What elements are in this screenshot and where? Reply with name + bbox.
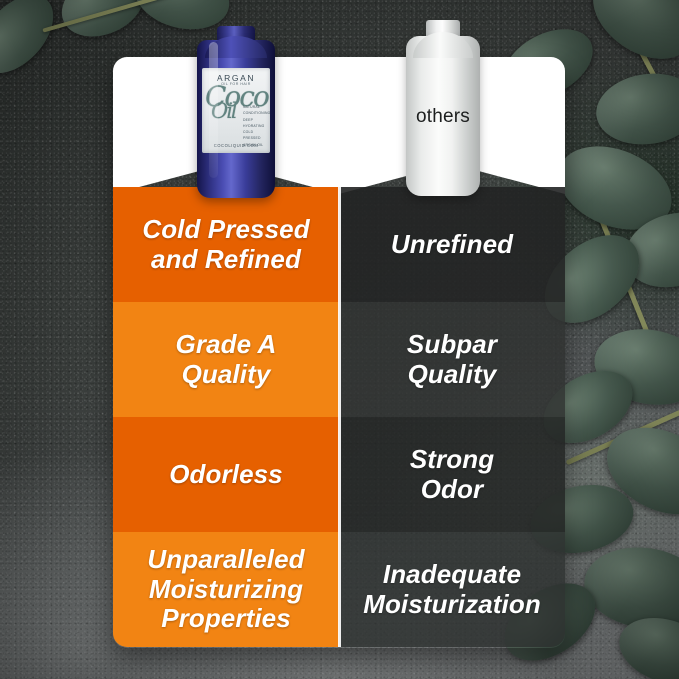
others-bottle-label: others — [406, 106, 480, 128]
others-feature-3-label: StrongOdor — [410, 445, 494, 504]
bottle-fine-print: NATURAL CONDITIONING DEEP HYDRATING COLD… — [243, 104, 267, 148]
bottle-highlight — [209, 42, 218, 178]
bottle-fine-print-4: COLD PRESSED — [243, 129, 267, 142]
others-feature-list: Unrefined SubparQuality StrongOdor Inade… — [339, 187, 565, 647]
others-feature-4-label: InadequateMoisturization — [363, 560, 541, 619]
ours-feature-2-label: Grade AQuality — [176, 330, 277, 389]
others-feature-2-label: SubparQuality — [407, 330, 497, 389]
ours-feature-3-label: Odorless — [169, 460, 283, 490]
ours-feature-3: Odorless — [113, 417, 339, 532]
column-ours: Cold Pressedand Refined Grade AQuality O… — [113, 57, 339, 647]
ours-feature-1: Cold Pressedand Refined — [113, 187, 339, 302]
column-divider — [338, 187, 341, 647]
ours-feature-list: Cold Pressedand Refined Grade AQuality O… — [113, 187, 339, 647]
argan-oil-bottle: ARGAN OIL FOR HAIR Coco Oil NATURAL COND… — [197, 26, 275, 198]
ours-feature-4-label: UnparalleledMoisturizingProperties — [147, 545, 304, 634]
others-feature-3: StrongOdor — [339, 417, 565, 532]
column-others: Unrefined SubparQuality StrongOdor Inade… — [339, 57, 565, 647]
comparison-card: Cold Pressedand Refined Grade AQuality O… — [113, 57, 565, 647]
comparison-infographic: Cold Pressedand Refined Grade AQuality O… — [0, 0, 679, 679]
others-feature-4: InadequateMoisturization — [339, 532, 565, 647]
ours-feature-1-label: Cold Pressedand Refined — [142, 215, 309, 274]
others-feature-1: Unrefined — [339, 187, 565, 302]
others-bottle: others — [406, 20, 480, 196]
others-feature-1-label: Unrefined — [391, 230, 513, 260]
bottle-fine-print-2: CONDITIONING — [243, 110, 267, 116]
ours-feature-4: UnparalleledMoisturizingProperties — [113, 532, 339, 647]
ours-feature-2: Grade AQuality — [113, 302, 339, 417]
bottle-fine-print-3: DEEP HYDRATING — [243, 117, 267, 130]
others-feature-2: SubparQuality — [339, 302, 565, 417]
